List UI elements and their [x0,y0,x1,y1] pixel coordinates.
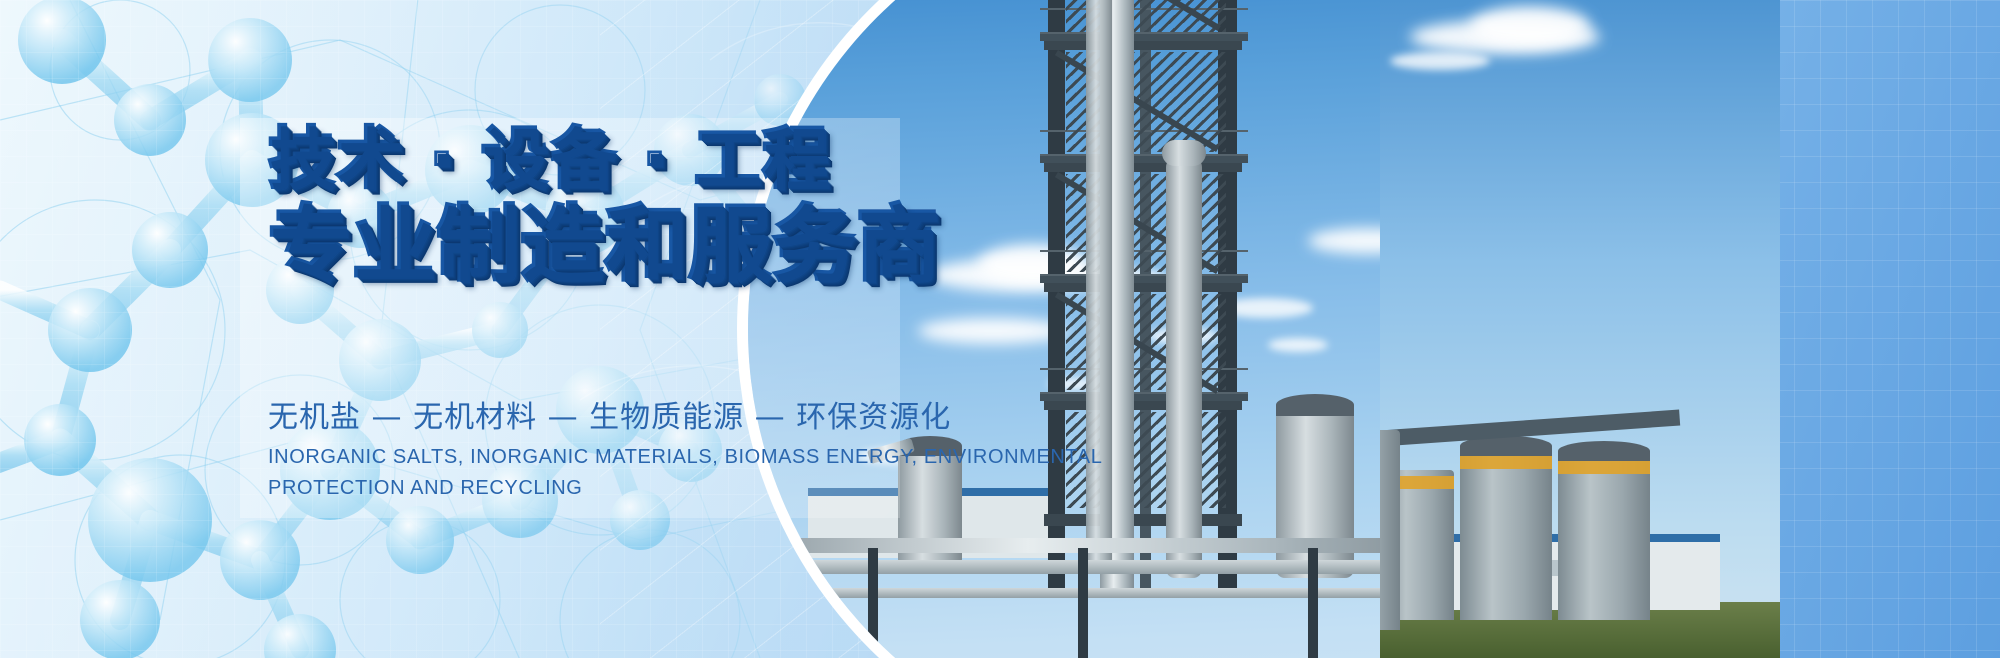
headline-line-2: 专业制造和服务商 [268,204,968,286]
subtitle-chinese: 无机盐 — 无机材料 — 生物质能源 — 环保资源化 [268,392,951,436]
headline-block: 技术 · 设备 · 工程 专业制造和服务商 [268,126,968,286]
subtitle-english: INORGANIC SALTS, INORGANIC MATERIALS, BI… [268,442,918,504]
subtitle-english-line-1: INORGANIC SALTS, INORGANIC MATERIALS, BI… [268,442,918,473]
headline-line-1: 技术 · 设备 · 工程 [268,126,968,192]
plant-silos-region [1380,0,1780,658]
hero-banner: 技术 · 设备 · 工程 专业制造和服务商 无机盐 — 无机材料 — 生物质能源… [0,0,2000,658]
subtitle-english-line-2: PROTECTION AND RECYCLING [268,473,918,504]
